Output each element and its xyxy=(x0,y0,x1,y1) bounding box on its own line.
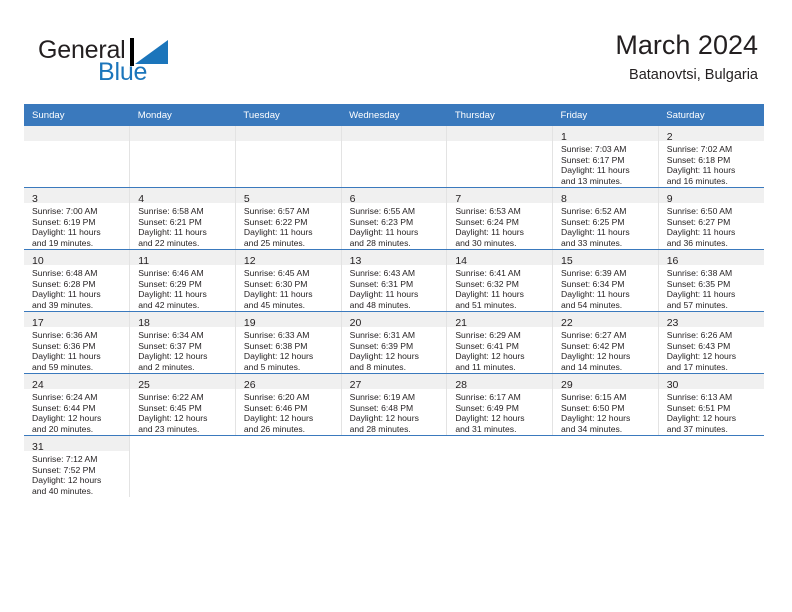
sunset-text: Sunset: 6:17 PM xyxy=(561,155,654,166)
calendar-day-cell[interactable]: 18Sunrise: 6:34 AMSunset: 6:37 PMDayligh… xyxy=(130,312,236,374)
daylight-text-line1: Daylight: 12 hours xyxy=(244,413,337,424)
sunset-text: Sunset: 6:44 PM xyxy=(32,403,125,414)
day-number-strip: 2 xyxy=(659,126,764,141)
day-cell-inner xyxy=(658,436,764,497)
daylight-text-line2: and 25 minutes. xyxy=(244,238,337,249)
day-cell-inner: 16Sunrise: 6:38 AMSunset: 6:35 PMDayligh… xyxy=(659,250,764,311)
day-cell-inner: 27Sunrise: 6:19 AMSunset: 6:48 PMDayligh… xyxy=(342,374,447,435)
sunrise-text: Sunrise: 7:02 AM xyxy=(667,144,760,155)
day-cell-inner xyxy=(447,436,553,497)
daylight-text-line1: Daylight: 11 hours xyxy=(561,289,654,300)
day-number: 8 xyxy=(561,193,567,205)
day-cell-inner: 9Sunrise: 6:50 AMSunset: 6:27 PMDaylight… xyxy=(659,188,764,249)
day-number: 22 xyxy=(561,317,573,329)
day-cell-details: Sunrise: 6:17 AMSunset: 6:49 PMDaylight:… xyxy=(447,389,552,434)
calendar-day-cell[interactable]: 27Sunrise: 6:19 AMSunset: 6:48 PMDayligh… xyxy=(341,374,447,436)
daylight-text-line1: Daylight: 12 hours xyxy=(350,351,443,362)
day-cell-details: Sunrise: 6:20 AMSunset: 6:46 PMDaylight:… xyxy=(236,389,341,434)
daylight-text-line1: Daylight: 11 hours xyxy=(455,227,548,238)
day-cell-inner xyxy=(553,436,659,497)
day-cell-inner: 2Sunrise: 7:02 AMSunset: 6:18 PMDaylight… xyxy=(659,126,764,187)
day-number: 16 xyxy=(667,255,679,267)
calendar-week-row: 24Sunrise: 6:24 AMSunset: 6:44 PMDayligh… xyxy=(24,374,764,436)
calendar-day-cell[interactable]: 12Sunrise: 6:45 AMSunset: 6:30 PMDayligh… xyxy=(235,250,341,312)
daylight-text-line2: and 40 minutes. xyxy=(32,486,125,497)
sunrise-text: Sunrise: 6:29 AM xyxy=(455,330,548,341)
daylight-text-line2: and 5 minutes. xyxy=(244,362,337,373)
day-number-strip: 12 xyxy=(236,250,341,265)
day-number-strip: 18 xyxy=(130,312,235,327)
day-cell-details xyxy=(553,451,659,454)
daylight-text-line2: and 37 minutes. xyxy=(667,424,760,435)
calendar-empty-cell xyxy=(235,126,341,188)
daylight-text-line1: Daylight: 12 hours xyxy=(32,413,125,424)
sunset-text: Sunset: 6:25 PM xyxy=(561,217,654,228)
day-number-strip xyxy=(235,436,341,451)
daylight-text-line2: and 48 minutes. xyxy=(350,300,443,311)
calendar-day-cell[interactable]: 30Sunrise: 6:13 AMSunset: 6:51 PMDayligh… xyxy=(658,374,764,436)
daylight-text-line2: and 45 minutes. xyxy=(244,300,337,311)
day-cell-inner: 10Sunrise: 6:48 AMSunset: 6:28 PMDayligh… xyxy=(24,250,129,311)
day-number: 13 xyxy=(350,255,362,267)
day-number: 6 xyxy=(350,193,356,205)
daylight-text-line2: and 8 minutes. xyxy=(350,362,443,373)
day-number: 29 xyxy=(561,379,573,391)
sunset-text: Sunset: 6:37 PM xyxy=(138,341,231,352)
day-number: 26 xyxy=(244,379,256,391)
day-number-strip: 22 xyxy=(553,312,658,327)
day-cell-inner: 25Sunrise: 6:22 AMSunset: 6:45 PMDayligh… xyxy=(130,374,235,435)
day-number-strip: 14 xyxy=(447,250,552,265)
day-number-strip: 25 xyxy=(130,374,235,389)
sunrise-text: Sunrise: 6:55 AM xyxy=(350,206,443,217)
day-cell-inner: 29Sunrise: 6:15 AMSunset: 6:50 PMDayligh… xyxy=(553,374,658,435)
daylight-text-line1: Daylight: 11 hours xyxy=(244,227,337,238)
day-number-strip: 13 xyxy=(342,250,447,265)
page-subtitle-location: Batanovtsi, Bulgaria xyxy=(615,64,758,86)
sunrise-text: Sunrise: 6:41 AM xyxy=(455,268,548,279)
calendar-day-cell[interactable]: 19Sunrise: 6:33 AMSunset: 6:38 PMDayligh… xyxy=(235,312,341,374)
day-number-strip: 21 xyxy=(447,312,552,327)
calendar-week-row: 1Sunrise: 7:03 AMSunset: 6:17 PMDaylight… xyxy=(24,126,764,188)
daylight-text-line2: and 36 minutes. xyxy=(667,238,760,249)
sunrise-text: Sunrise: 7:12 AM xyxy=(32,454,125,465)
day-cell-details: Sunrise: 7:12 AMSunset: 7:52 PMDaylight:… xyxy=(24,451,129,496)
sunset-text: Sunset: 6:24 PM xyxy=(455,217,548,228)
daylight-text-line1: Daylight: 11 hours xyxy=(561,227,654,238)
calendar-week-row: 3Sunrise: 7:00 AMSunset: 6:19 PMDaylight… xyxy=(24,188,764,250)
day-cell-inner: 4Sunrise: 6:58 AMSunset: 6:21 PMDaylight… xyxy=(130,188,235,249)
day-cell-details: Sunrise: 6:39 AMSunset: 6:34 PMDaylight:… xyxy=(553,265,658,310)
calendar-week-row: 17Sunrise: 6:36 AMSunset: 6:36 PMDayligh… xyxy=(24,312,764,374)
calendar-day-cell[interactable]: 21Sunrise: 6:29 AMSunset: 6:41 PMDayligh… xyxy=(447,312,553,374)
day-cell-inner: 13Sunrise: 6:43 AMSunset: 6:31 PMDayligh… xyxy=(342,250,447,311)
calendar-day-cell[interactable]: 25Sunrise: 6:22 AMSunset: 6:45 PMDayligh… xyxy=(130,374,236,436)
day-cell-inner: 14Sunrise: 6:41 AMSunset: 6:32 PMDayligh… xyxy=(447,250,552,311)
day-number: 5 xyxy=(244,193,250,205)
day-number: 31 xyxy=(32,441,44,453)
weekday-header-tuesday: Tuesday xyxy=(235,104,341,126)
sunrise-text: Sunrise: 6:13 AM xyxy=(667,392,760,403)
calendar-day-cell[interactable]: 3Sunrise: 7:00 AMSunset: 6:19 PMDaylight… xyxy=(24,188,130,250)
sunset-text: Sunset: 6:48 PM xyxy=(350,403,443,414)
day-cell-details xyxy=(130,141,235,144)
calendar-day-cell[interactable]: 15Sunrise: 6:39 AMSunset: 6:34 PMDayligh… xyxy=(553,250,659,312)
day-cell-inner: 8Sunrise: 6:52 AMSunset: 6:25 PMDaylight… xyxy=(553,188,658,249)
day-cell-details: Sunrise: 7:00 AMSunset: 6:19 PMDaylight:… xyxy=(24,203,129,248)
day-cell-details: Sunrise: 6:22 AMSunset: 6:45 PMDaylight:… xyxy=(130,389,235,434)
day-number-strip: 17 xyxy=(24,312,129,327)
sunset-text: Sunset: 6:18 PM xyxy=(667,155,760,166)
day-cell-details: Sunrise: 6:31 AMSunset: 6:39 PMDaylight:… xyxy=(342,327,447,372)
calendar-day-cell[interactable]: 16Sunrise: 6:38 AMSunset: 6:35 PMDayligh… xyxy=(658,250,764,312)
sunrise-text: Sunrise: 6:24 AM xyxy=(32,392,125,403)
sunrise-text: Sunrise: 6:48 AM xyxy=(32,268,125,279)
day-number-strip: 7 xyxy=(447,188,552,203)
day-number: 23 xyxy=(667,317,679,329)
sunrise-text: Sunrise: 6:36 AM xyxy=(32,330,125,341)
sunrise-text: Sunrise: 6:33 AM xyxy=(244,330,337,341)
day-number-strip: 3 xyxy=(24,188,129,203)
day-number-strip xyxy=(447,436,553,451)
day-cell-details xyxy=(342,141,447,144)
sunset-text: Sunset: 6:45 PM xyxy=(138,403,231,414)
daylight-text-line1: Daylight: 11 hours xyxy=(244,289,337,300)
daylight-text-line1: Daylight: 12 hours xyxy=(32,475,125,486)
sunset-text: Sunset: 6:43 PM xyxy=(667,341,760,352)
day-number-strip: 4 xyxy=(130,188,235,203)
day-number-strip xyxy=(342,126,447,141)
sunset-text: Sunset: 6:46 PM xyxy=(244,403,337,414)
day-cell-inner: 1Sunrise: 7:03 AMSunset: 6:17 PMDaylight… xyxy=(553,126,658,187)
day-cell-details: Sunrise: 6:33 AMSunset: 6:38 PMDaylight:… xyxy=(236,327,341,372)
brand-logo[interactable]: General Blue xyxy=(38,36,228,96)
calendar-day-cell[interactable]: 22Sunrise: 6:27 AMSunset: 6:42 PMDayligh… xyxy=(553,312,659,374)
sunset-text: Sunset: 6:27 PM xyxy=(667,217,760,228)
sunrise-text: Sunrise: 6:43 AM xyxy=(350,268,443,279)
daylight-text-line1: Daylight: 11 hours xyxy=(32,351,125,362)
day-cell-details: Sunrise: 6:48 AMSunset: 6:28 PMDaylight:… xyxy=(24,265,129,310)
day-cell-details xyxy=(447,141,552,144)
sunrise-text: Sunrise: 6:31 AM xyxy=(350,330,443,341)
daylight-text-line1: Daylight: 12 hours xyxy=(138,351,231,362)
daylight-text-line2: and 17 minutes. xyxy=(667,362,760,373)
sunset-text: Sunset: 6:28 PM xyxy=(32,279,125,290)
day-number: 2 xyxy=(667,131,673,143)
daylight-text-line1: Daylight: 11 hours xyxy=(667,227,760,238)
calendar-day-cell[interactable]: 2Sunrise: 7:02 AMSunset: 6:18 PMDaylight… xyxy=(658,126,764,188)
daylight-text-line1: Daylight: 11 hours xyxy=(455,289,548,300)
daylight-text-line2: and 59 minutes. xyxy=(32,362,125,373)
sunset-text: Sunset: 6:23 PM xyxy=(350,217,443,228)
day-cell-inner xyxy=(236,126,341,187)
calendar-day-cell[interactable]: 13Sunrise: 6:43 AMSunset: 6:31 PMDayligh… xyxy=(341,250,447,312)
day-cell-inner: 12Sunrise: 6:45 AMSunset: 6:30 PMDayligh… xyxy=(236,250,341,311)
sunset-text: Sunset: 6:50 PM xyxy=(561,403,654,414)
sunset-text: Sunset: 6:36 PM xyxy=(32,341,125,352)
day-number-strip: 9 xyxy=(659,188,764,203)
sunrise-text: Sunrise: 6:15 AM xyxy=(561,392,654,403)
sunset-text: Sunset: 6:19 PM xyxy=(32,217,125,228)
daylight-text-line2: and 33 minutes. xyxy=(561,238,654,249)
daylight-text-line2: and 20 minutes. xyxy=(32,424,125,435)
day-number-strip: 1 xyxy=(553,126,658,141)
daylight-text-line2: and 28 minutes. xyxy=(350,238,443,249)
day-cell-details: Sunrise: 6:52 AMSunset: 6:25 PMDaylight:… xyxy=(553,203,658,248)
day-cell-inner xyxy=(447,126,552,187)
day-cell-inner: 17Sunrise: 6:36 AMSunset: 6:36 PMDayligh… xyxy=(24,312,129,373)
day-number: 9 xyxy=(667,193,673,205)
weekday-header-thursday: Thursday xyxy=(447,104,553,126)
weekday-header-sunday: Sunday xyxy=(24,104,130,126)
calendar-day-cell[interactable]: 31Sunrise: 7:12 AMSunset: 7:52 PMDayligh… xyxy=(24,436,130,498)
sunset-text: Sunset: 6:29 PM xyxy=(138,279,231,290)
day-number-strip xyxy=(24,126,129,141)
sunset-text: Sunset: 6:39 PM xyxy=(350,341,443,352)
day-number-strip: 29 xyxy=(553,374,658,389)
sunrise-text: Sunrise: 6:38 AM xyxy=(667,268,760,279)
sunrise-text: Sunrise: 6:27 AM xyxy=(561,330,654,341)
day-number: 11 xyxy=(138,255,149,267)
day-number: 18 xyxy=(138,317,150,329)
day-cell-details: Sunrise: 6:53 AMSunset: 6:24 PMDaylight:… xyxy=(447,203,552,248)
day-cell-details: Sunrise: 6:38 AMSunset: 6:35 PMDaylight:… xyxy=(659,265,764,310)
sunrise-text: Sunrise: 7:00 AM xyxy=(32,206,125,217)
daylight-text-line2: and 57 minutes. xyxy=(667,300,760,311)
day-number-strip xyxy=(236,126,341,141)
daylight-text-line1: Daylight: 11 hours xyxy=(667,165,760,176)
day-number: 10 xyxy=(32,255,44,267)
daylight-text-line2: and 14 minutes. xyxy=(561,362,654,373)
daylight-text-line1: Daylight: 11 hours xyxy=(667,289,760,300)
weekday-header-wednesday: Wednesday xyxy=(341,104,447,126)
day-number-strip: 31 xyxy=(24,436,129,451)
sunrise-text: Sunrise: 6:57 AM xyxy=(244,206,337,217)
day-cell-inner: 31Sunrise: 7:12 AMSunset: 7:52 PMDayligh… xyxy=(24,436,129,497)
day-number-strip: 23 xyxy=(659,312,764,327)
sunrise-text: Sunrise: 6:50 AM xyxy=(667,206,760,217)
day-cell-details xyxy=(235,451,341,454)
daylight-text-line2: and 16 minutes. xyxy=(667,176,760,187)
day-number-strip: 15 xyxy=(553,250,658,265)
day-cell-details: Sunrise: 6:41 AMSunset: 6:32 PMDaylight:… xyxy=(447,265,552,310)
sunset-text: Sunset: 6:51 PM xyxy=(667,403,760,414)
calendar-page: General Blue March 2024 Batanovtsi, Bulg… xyxy=(0,0,792,612)
calendar-empty-cell xyxy=(235,436,341,498)
day-number: 20 xyxy=(350,317,362,329)
daylight-text-line1: Daylight: 11 hours xyxy=(350,289,443,300)
day-number-strip: 10 xyxy=(24,250,129,265)
sunset-text: Sunset: 6:38 PM xyxy=(244,341,337,352)
calendar-day-cell[interactable]: 23Sunrise: 6:26 AMSunset: 6:43 PMDayligh… xyxy=(658,312,764,374)
calendar-empty-cell xyxy=(130,436,236,498)
day-cell-inner: 22Sunrise: 6:27 AMSunset: 6:42 PMDayligh… xyxy=(553,312,658,373)
daylight-text-line1: Daylight: 11 hours xyxy=(350,227,443,238)
daylight-text-line1: Daylight: 11 hours xyxy=(32,289,125,300)
day-cell-details: Sunrise: 6:13 AMSunset: 6:51 PMDaylight:… xyxy=(659,389,764,434)
brand-name-blue: Blue xyxy=(98,58,147,86)
daylight-text-line1: Daylight: 12 hours xyxy=(350,413,443,424)
day-cell-details: Sunrise: 6:58 AMSunset: 6:21 PMDaylight:… xyxy=(130,203,235,248)
daylight-text-line1: Daylight: 12 hours xyxy=(667,351,760,362)
calendar-day-cell[interactable]: 1Sunrise: 7:03 AMSunset: 6:17 PMDaylight… xyxy=(553,126,659,188)
day-cell-details xyxy=(130,451,235,454)
day-number: 7 xyxy=(455,193,461,205)
daylight-text-line2: and 11 minutes. xyxy=(455,362,548,373)
calendar-day-cell[interactable]: 29Sunrise: 6:15 AMSunset: 6:50 PMDayligh… xyxy=(553,374,659,436)
day-cell-inner: 18Sunrise: 6:34 AMSunset: 6:37 PMDayligh… xyxy=(130,312,235,373)
daylight-text-line2: and 39 minutes. xyxy=(32,300,125,311)
day-number-strip: 27 xyxy=(342,374,447,389)
daylight-text-line2: and 54 minutes. xyxy=(561,300,654,311)
calendar-day-cell[interactable]: 7Sunrise: 6:53 AMSunset: 6:24 PMDaylight… xyxy=(447,188,553,250)
calendar-week-row: 31Sunrise: 7:12 AMSunset: 7:52 PMDayligh… xyxy=(24,436,764,498)
calendar-day-cell[interactable]: 24Sunrise: 6:24 AMSunset: 6:44 PMDayligh… xyxy=(24,374,130,436)
day-number: 27 xyxy=(350,379,362,391)
day-cell-details xyxy=(236,141,341,144)
calendar-empty-cell xyxy=(341,436,447,498)
calendar-day-cell[interactable]: 4Sunrise: 6:58 AMSunset: 6:21 PMDaylight… xyxy=(130,188,236,250)
daylight-text-line2: and 23 minutes. xyxy=(138,424,231,435)
day-number: 19 xyxy=(244,317,256,329)
calendar-day-cell[interactable]: 28Sunrise: 6:17 AMSunset: 6:49 PMDayligh… xyxy=(447,374,553,436)
daylight-text-line2: and 13 minutes. xyxy=(561,176,654,187)
sunset-text: Sunset: 6:49 PM xyxy=(455,403,548,414)
day-cell-details: Sunrise: 6:36 AMSunset: 6:36 PMDaylight:… xyxy=(24,327,129,372)
day-cell-details: Sunrise: 6:19 AMSunset: 6:48 PMDaylight:… xyxy=(342,389,447,434)
sunset-text: Sunset: 6:34 PM xyxy=(561,279,654,290)
daylight-text-line1: Daylight: 12 hours xyxy=(667,413,760,424)
daylight-text-line2: and 51 minutes. xyxy=(455,300,548,311)
day-cell-details: Sunrise: 6:15 AMSunset: 6:50 PMDaylight:… xyxy=(553,389,658,434)
day-number-strip: 20 xyxy=(342,312,447,327)
day-number-strip: 30 xyxy=(659,374,764,389)
daylight-text-line2: and 2 minutes. xyxy=(138,362,231,373)
sunrise-text: Sunrise: 6:58 AM xyxy=(138,206,231,217)
calendar-day-cell[interactable]: 8Sunrise: 6:52 AMSunset: 6:25 PMDaylight… xyxy=(553,188,659,250)
sunrise-text: Sunrise: 6:22 AM xyxy=(138,392,231,403)
daylight-text-line1: Daylight: 12 hours xyxy=(244,351,337,362)
sunrise-text: Sunrise: 6:46 AM xyxy=(138,268,231,279)
daylight-text-line1: Daylight: 12 hours xyxy=(138,413,231,424)
day-number-strip: 28 xyxy=(447,374,552,389)
day-number-strip xyxy=(130,126,235,141)
day-number-strip xyxy=(553,436,659,451)
calendar-day-cell[interactable]: 9Sunrise: 6:50 AMSunset: 6:27 PMDaylight… xyxy=(658,188,764,250)
day-cell-details xyxy=(658,451,764,454)
day-cell-inner xyxy=(235,436,341,497)
calendar-day-cell[interactable]: 20Sunrise: 6:31 AMSunset: 6:39 PMDayligh… xyxy=(341,312,447,374)
weekday-header-monday: Monday xyxy=(130,104,236,126)
day-number: 21 xyxy=(455,317,467,329)
daylight-text-line2: and 31 minutes. xyxy=(455,424,548,435)
day-number: 14 xyxy=(455,255,467,267)
day-number: 12 xyxy=(244,255,256,267)
day-number: 24 xyxy=(32,379,44,391)
day-number-strip: 26 xyxy=(236,374,341,389)
day-cell-details: Sunrise: 6:50 AMSunset: 6:27 PMDaylight:… xyxy=(659,203,764,248)
sunset-text: Sunset: 6:22 PM xyxy=(244,217,337,228)
calendar-day-cell[interactable]: 6Sunrise: 6:55 AMSunset: 6:23 PMDaylight… xyxy=(341,188,447,250)
calendar-grid: Sunday Monday Tuesday Wednesday Thursday… xyxy=(24,104,764,497)
day-cell-inner: 7Sunrise: 6:53 AMSunset: 6:24 PMDaylight… xyxy=(447,188,552,249)
day-cell-details: Sunrise: 7:02 AMSunset: 6:18 PMDaylight:… xyxy=(659,141,764,186)
day-cell-inner: 21Sunrise: 6:29 AMSunset: 6:41 PMDayligh… xyxy=(447,312,552,373)
daylight-text-line2: and 19 minutes. xyxy=(32,238,125,249)
calendar-day-cell[interactable]: 14Sunrise: 6:41 AMSunset: 6:32 PMDayligh… xyxy=(447,250,553,312)
day-number: 28 xyxy=(455,379,467,391)
sunset-text: Sunset: 6:41 PM xyxy=(455,341,548,352)
calendar-day-cell[interactable]: 10Sunrise: 6:48 AMSunset: 6:28 PMDayligh… xyxy=(24,250,130,312)
sunrise-text: Sunrise: 6:26 AM xyxy=(667,330,760,341)
daylight-text-line1: Daylight: 12 hours xyxy=(455,413,548,424)
day-cell-inner xyxy=(341,436,447,497)
daylight-text-line2: and 22 minutes. xyxy=(138,238,231,249)
day-number: 17 xyxy=(32,317,44,329)
weekday-header-friday: Friday xyxy=(553,104,659,126)
day-cell-inner: 6Sunrise: 6:55 AMSunset: 6:23 PMDaylight… xyxy=(342,188,447,249)
day-number-strip: 5 xyxy=(236,188,341,203)
sunrise-text: Sunrise: 6:17 AM xyxy=(455,392,548,403)
day-cell-details: Sunrise: 6:27 AMSunset: 6:42 PMDaylight:… xyxy=(553,327,658,372)
daylight-text-line2: and 28 minutes. xyxy=(350,424,443,435)
day-number-strip xyxy=(447,126,552,141)
calendar-header-row: Sunday Monday Tuesday Wednesday Thursday… xyxy=(24,104,764,126)
day-number-strip: 6 xyxy=(342,188,447,203)
day-cell-details: Sunrise: 6:34 AMSunset: 6:37 PMDaylight:… xyxy=(130,327,235,372)
daylight-text-line1: Daylight: 12 hours xyxy=(561,413,654,424)
day-cell-details: Sunrise: 7:03 AMSunset: 6:17 PMDaylight:… xyxy=(553,141,658,186)
calendar-day-cell[interactable]: 5Sunrise: 6:57 AMSunset: 6:22 PMDaylight… xyxy=(235,188,341,250)
day-cell-inner xyxy=(130,126,235,187)
calendar-empty-cell xyxy=(553,436,659,498)
calendar-day-cell[interactable]: 11Sunrise: 6:46 AMSunset: 6:29 PMDayligh… xyxy=(130,250,236,312)
day-number: 25 xyxy=(138,379,150,391)
calendar-empty-cell xyxy=(341,126,447,188)
sunset-text: Sunset: 6:35 PM xyxy=(667,279,760,290)
day-cell-inner xyxy=(24,126,129,187)
sunset-text: Sunset: 6:21 PM xyxy=(138,217,231,228)
sunrise-text: Sunrise: 7:03 AM xyxy=(561,144,654,155)
day-cell-inner: 20Sunrise: 6:31 AMSunset: 6:39 PMDayligh… xyxy=(342,312,447,373)
daylight-text-line1: Daylight: 12 hours xyxy=(455,351,548,362)
day-cell-inner: 15Sunrise: 6:39 AMSunset: 6:34 PMDayligh… xyxy=(553,250,658,311)
day-cell-details: Sunrise: 6:43 AMSunset: 6:31 PMDaylight:… xyxy=(342,265,447,310)
day-number-strip xyxy=(658,436,764,451)
day-number: 4 xyxy=(138,193,144,205)
day-cell-details: Sunrise: 6:26 AMSunset: 6:43 PMDaylight:… xyxy=(659,327,764,372)
sunset-text: Sunset: 6:42 PM xyxy=(561,341,654,352)
day-cell-details: Sunrise: 6:24 AMSunset: 6:44 PMDaylight:… xyxy=(24,389,129,434)
daylight-text-line1: Daylight: 11 hours xyxy=(138,227,231,238)
day-number-strip xyxy=(130,436,235,451)
calendar-day-cell[interactable]: 26Sunrise: 6:20 AMSunset: 6:46 PMDayligh… xyxy=(235,374,341,436)
calendar-day-cell[interactable]: 17Sunrise: 6:36 AMSunset: 6:36 PMDayligh… xyxy=(24,312,130,374)
page-title: March 2024 xyxy=(615,28,758,62)
daylight-text-line2: and 34 minutes. xyxy=(561,424,654,435)
sunrise-text: Sunrise: 6:19 AM xyxy=(350,392,443,403)
day-number-strip: 11 xyxy=(130,250,235,265)
sunset-text: Sunset: 6:32 PM xyxy=(455,279,548,290)
day-number: 30 xyxy=(667,379,679,391)
calendar-empty-cell xyxy=(447,436,553,498)
day-cell-details: Sunrise: 6:46 AMSunset: 6:29 PMDaylight:… xyxy=(130,265,235,310)
day-cell-inner xyxy=(342,126,447,187)
day-cell-inner: 26Sunrise: 6:20 AMSunset: 6:46 PMDayligh… xyxy=(236,374,341,435)
day-cell-details: Sunrise: 6:29 AMSunset: 6:41 PMDaylight:… xyxy=(447,327,552,372)
weekday-header-saturday: Saturday xyxy=(658,104,764,126)
day-cell-inner: 24Sunrise: 6:24 AMSunset: 6:44 PMDayligh… xyxy=(24,374,129,435)
